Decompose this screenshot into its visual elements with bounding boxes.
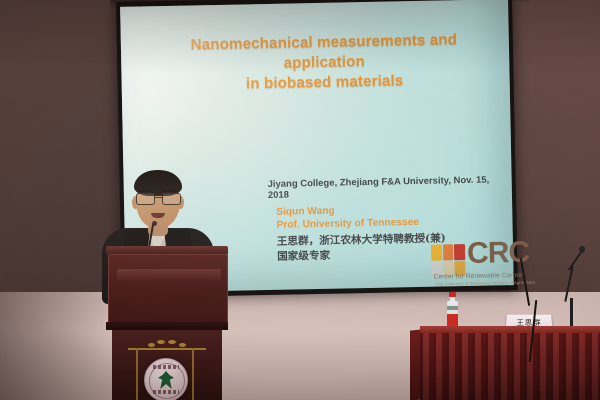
podium	[106, 246, 228, 400]
bottle-cap	[449, 292, 456, 297]
bottle-neck	[450, 297, 455, 302]
crest-ornament-dot-3	[168, 340, 176, 344]
podium-front-panel	[108, 254, 228, 324]
speaker-brow-right	[162, 190, 176, 192]
table-top-surface	[420, 326, 600, 333]
podium-panel-highlight	[117, 269, 221, 281]
crest-text-top	[153, 365, 179, 369]
university-crest-icon	[144, 358, 188, 400]
glasses-icon	[135, 193, 181, 203]
wall-lower-shadow	[0, 292, 120, 400]
crest-post-right	[192, 348, 194, 400]
crest-ornament-dot-1	[148, 343, 155, 347]
bottle-label	[447, 314, 458, 326]
speaker-brow-left	[138, 190, 152, 192]
crest-text-bottom	[153, 390, 179, 394]
table-microphone-icon	[579, 246, 585, 253]
crest-ornament-dot-4	[179, 343, 186, 347]
glasses-lens-right	[162, 193, 181, 205]
podium-band	[106, 322, 228, 330]
table-drape	[420, 333, 600, 400]
podium-crest-assembly	[122, 338, 212, 400]
crest-ornament-dot-2	[157, 340, 165, 344]
water-bottle-icon	[447, 292, 458, 328]
crest-post-left	[136, 348, 138, 400]
glasses-bridge	[154, 197, 162, 198]
glasses-lens-left	[136, 193, 155, 205]
table-mic-stem	[570, 298, 573, 328]
bottle-label-upper	[447, 306, 458, 310]
podium-microphone-icon	[152, 221, 157, 226]
lecture-photo-scene: Nanomechanical measurements and applicat…	[0, 0, 600, 400]
head-table: 王思群	[420, 326, 600, 400]
